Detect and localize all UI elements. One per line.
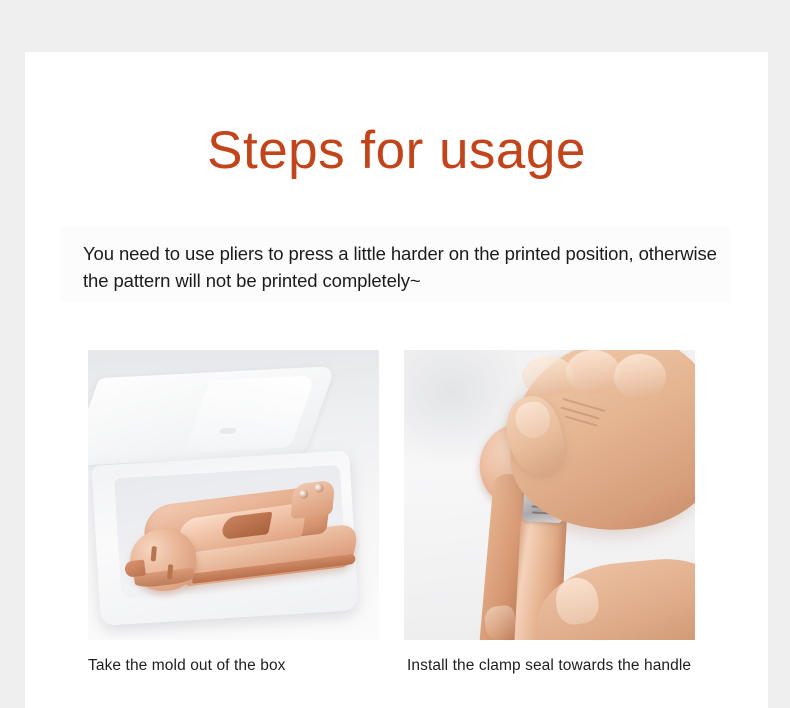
embosser-in-white-box-photo — [88, 350, 379, 640]
photo-backdrop — [404, 350, 695, 640]
hand-holding-embosser-photo — [404, 350, 695, 640]
knuckle-2 — [566, 350, 620, 394]
intro-paragraph: You need to use pliers to press a little… — [83, 241, 723, 295]
captions-row: Take the mold out of the box Install the… — [88, 657, 695, 697]
steps-row — [88, 350, 695, 640]
step-item-1 — [88, 350, 379, 640]
photo-backdrop — [88, 350, 379, 640]
content-card: Steps for usage You need to use pliers t… — [25, 52, 768, 708]
page-root: Steps for usage You need to use pliers t… — [0, 0, 790, 708]
box-lid-nub — [219, 428, 237, 434]
step-item-2 — [404, 350, 695, 640]
knuckle-3 — [614, 354, 666, 400]
embosser-tail — [124, 560, 146, 578]
embosser-lower-highlight — [483, 604, 517, 640]
step-caption-2: Install the clamp seal towards the handl… — [404, 657, 695, 697]
step-caption-1: Take the mold out of the box — [88, 657, 379, 697]
embosser-pivot — [291, 480, 336, 520]
page-title: Steps for usage — [25, 122, 768, 180]
